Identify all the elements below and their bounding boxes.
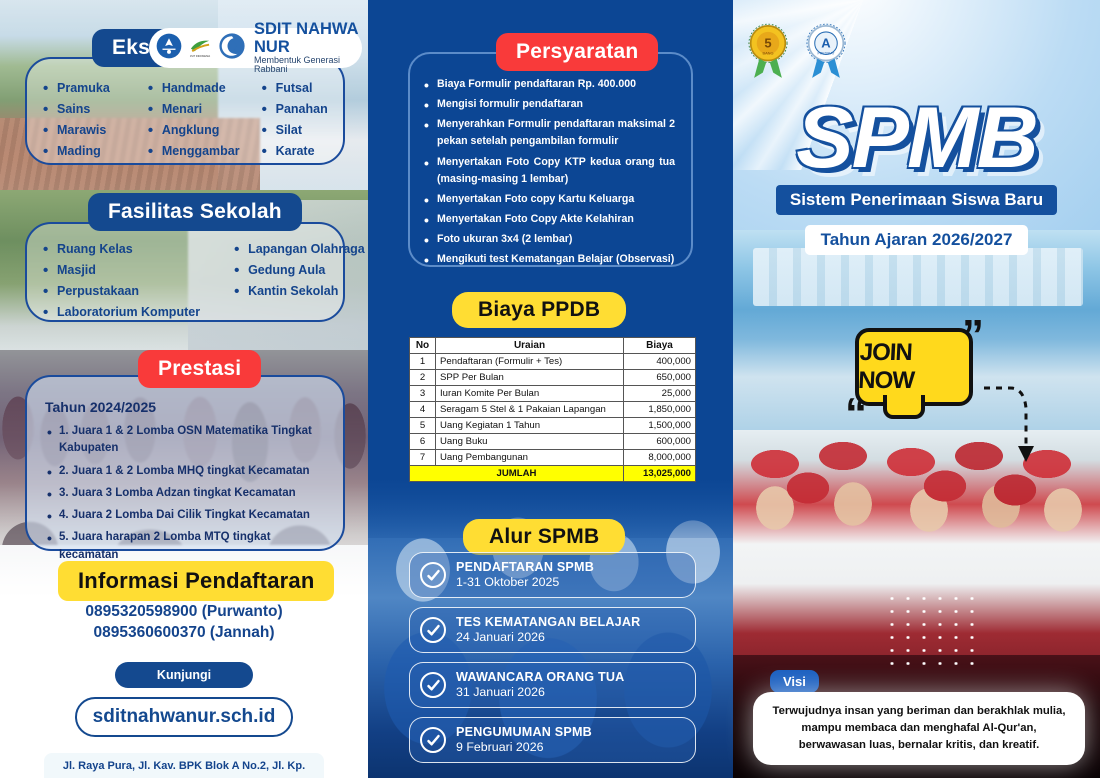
cell-biaya: 400,000 xyxy=(624,354,696,370)
accreditation-badge-ban: A PREDIKAT xyxy=(800,22,852,80)
nahwa-nur-logo-icon xyxy=(218,32,246,65)
check-circle-icon xyxy=(420,562,446,588)
list-item: Pramuka xyxy=(43,81,110,95)
accreditation-badge-jsit: 5 BANG xyxy=(742,22,794,80)
table-row: 7 Uang Pembangunan 8,000,000 xyxy=(410,450,696,466)
cell-no: 3 xyxy=(410,386,436,402)
list-item: Foto ukuran 3x4 (2 lembar) xyxy=(422,231,675,248)
list-item: 2. Juara 1 & 2 Lomba MHQ tingkat Kecamat… xyxy=(45,463,325,480)
list-item: Sains xyxy=(43,102,110,116)
cell-no: 4 xyxy=(410,402,436,418)
cell-no: 7 xyxy=(410,450,436,466)
biaya-ppdb-table: No Uraian Biaya 1 Pendaftaran (Formulir … xyxy=(409,337,696,482)
table-row: 3 Iuran Komite Per Bulan 25,000 xyxy=(410,386,696,402)
flow-step-date: 1-31 Oktober 2025 xyxy=(456,575,594,590)
cell-biaya: 1,850,000 xyxy=(624,402,696,418)
flow-step-2: TES KEMATANGAN BELAJAR 24 Januari 2026 xyxy=(409,607,696,653)
list-item: Angklung xyxy=(148,123,240,137)
list-item: Mading xyxy=(43,144,110,158)
visit-button[interactable]: Kunjungi xyxy=(115,662,253,688)
list-item: Gedung Aula xyxy=(234,263,365,277)
fasilitas-card: Ruang Kelas Masjid Perpustakaan Laborato… xyxy=(25,222,345,322)
list-item: Marawis xyxy=(43,123,110,137)
cell-total-label: JUMLAH xyxy=(410,466,624,482)
cell-biaya: 8,000,000 xyxy=(624,450,696,466)
prestasi-list: 1. Juara 1 & 2 Lomba OSN Matematika Ting… xyxy=(45,423,325,564)
cell-uraian: Uang Pembangunan xyxy=(436,450,624,466)
cell-total-value: 13,025,000 xyxy=(624,466,696,482)
cell-uraian: Seragam 5 Stel & 1 Pakaian Lapangan xyxy=(436,402,624,418)
prestasi-title: Prestasi xyxy=(138,350,261,388)
cell-uraian: Uang Kegiatan 1 Tahun xyxy=(436,418,624,434)
list-item: Menyertakan Foto Copy KTP kedua orang tu… xyxy=(422,154,675,188)
list-item: Menyertakan Foto Copy Akte Kelahiran xyxy=(422,211,675,228)
list-item: Laboratorium Komputer xyxy=(43,305,200,319)
list-item: Kantin Sekolah xyxy=(234,284,365,298)
flow-step-name: WAWANCARA ORANG TUA xyxy=(456,670,624,684)
svg-text:5: 5 xyxy=(764,36,771,51)
list-item: 4. Juara 2 Lomba Dai Cilik Tingkat Kecam… xyxy=(45,507,325,524)
join-now-button[interactable]: JOIN NOW xyxy=(855,328,973,406)
table-row: 4 Seragam 5 Stel & 1 Pakaian Lapangan 1,… xyxy=(410,402,696,418)
prestasi-year: Tahun 2024/2025 xyxy=(45,399,325,415)
list-item: Ruang Kelas xyxy=(43,242,200,256)
tut-wuri-handayani-icon xyxy=(156,33,182,64)
cell-no: 6 xyxy=(410,434,436,450)
list-item: Futsal xyxy=(262,81,328,95)
hero-block: SPMB Sistem Penerimaan Siswa Baru Tahun … xyxy=(733,100,1100,255)
persyaratan-list: Biaya Formulir pendaftaran Rp. 400.000 M… xyxy=(410,54,691,269)
page-title: SPMB xyxy=(733,100,1100,177)
table-row: 2 SPP Per Bulan 650,000 xyxy=(410,370,696,386)
website-link[interactable]: sditnahwanur.sch.id xyxy=(75,697,293,737)
hero-subtitle: Sistem Penerimaan Siswa Baru xyxy=(776,185,1057,215)
school-logo-bar: JSIT INDONESIA SDIT NAHWA NUR Membentuk … xyxy=(149,28,362,68)
check-circle-icon xyxy=(420,617,446,643)
ekstrakurikuler-column-3: Futsal Panahan Silat Karate xyxy=(262,81,328,165)
flow-step-1: PENDAFTARAN SPMB 1-31 Oktober 2025 xyxy=(409,552,696,598)
fasilitas-column-2: Lapangan Olahraga Gedung Aula Kantin Sek… xyxy=(234,242,365,326)
biaya-ppdb-title: Biaya PPDB xyxy=(452,292,626,328)
left-panel: Pramuka Sains Marawis Mading Handmade Me… xyxy=(0,0,368,778)
visi-label: Visi xyxy=(770,670,819,693)
list-item: Karate xyxy=(262,144,328,158)
brochure-page: Pramuka Sains Marawis Mading Handmade Me… xyxy=(0,0,1100,778)
table-row: 1 Pendaftaran (Formulir + Tes) 400,000 xyxy=(410,354,696,370)
flow-step-name: PENDAFTARAN SPMB xyxy=(456,560,594,574)
dot-grid-decoration xyxy=(884,592,980,670)
list-item: Menari xyxy=(148,102,240,116)
flow-step-3: WAWANCARA ORANG TUA 31 Januari 2026 xyxy=(409,662,696,708)
dashed-arrow-icon xyxy=(980,380,1050,470)
list-item: 3. Juara 3 Lomba Adzan tingkat Kecamatan xyxy=(45,485,325,502)
flow-step-4: PENGUMUMAN SPMB 9 Februari 2026 xyxy=(409,717,696,763)
ekstrakurikuler-column-2: Handmade Menari Angklung Menggambar xyxy=(148,81,240,165)
cell-biaya: 1,500,000 xyxy=(624,418,696,434)
prestasi-card: Tahun 2024/2025 1. Juara 1 & 2 Lomba OSN… xyxy=(25,375,345,551)
list-item: Silat xyxy=(262,123,328,137)
list-item: Lapangan Olahraga xyxy=(234,242,365,256)
school-tagline: Membentuk Generasi Rabbani xyxy=(254,56,362,75)
svg-text:JSIT INDONESIA: JSIT INDONESIA xyxy=(190,54,211,58)
table-row: 5 Uang Kegiatan 1 Tahun 1,500,000 xyxy=(410,418,696,434)
cell-uraian: Iuran Komite Per Bulan xyxy=(436,386,624,402)
flow-step-date: 31 Januari 2026 xyxy=(456,685,624,700)
fasilitas-title: Fasilitas Sekolah xyxy=(88,193,302,231)
join-now-label: JOIN NOW xyxy=(858,339,971,395)
list-item: Masjid xyxy=(43,263,200,277)
list-item: Biaya Formulir pendaftaran Rp. 400.000 xyxy=(422,76,675,93)
list-item: 5. Juara harapan 2 Lomba MTQ tingkat kec… xyxy=(45,529,325,564)
visi-text: Terwujudnya insan yang beriman dan berak… xyxy=(753,692,1085,765)
column-header-biaya: Biaya xyxy=(624,338,696,354)
column-header-no: No xyxy=(410,338,436,354)
fasilitas-column-1: Ruang Kelas Masjid Perpustakaan Laborato… xyxy=(43,242,200,326)
school-name: SDIT NAHWA NUR xyxy=(254,21,362,56)
flow-step-name: PENGUMUMAN SPMB xyxy=(456,725,592,739)
list-item: Mengikuti test Kematangan Belajar (Obser… xyxy=(422,251,675,268)
informasi-title: Informasi Pendaftaran xyxy=(58,561,334,601)
persyaratan-card: Biaya Formulir pendaftaran Rp. 400.000 M… xyxy=(408,52,693,267)
list-item: Menggambar xyxy=(148,144,240,158)
check-circle-icon xyxy=(420,672,446,698)
list-item: Mengisi formulir pendaftaran xyxy=(422,96,675,113)
flow-step-date: 9 Februari 2026 xyxy=(456,740,592,755)
check-circle-icon xyxy=(420,727,446,753)
cell-biaya: 650,000 xyxy=(624,370,696,386)
alur-spmb-title: Alur SPMB xyxy=(463,519,625,555)
cell-uraian: SPP Per Bulan xyxy=(436,370,624,386)
jsit-indonesia-icon: JSIT INDONESIA xyxy=(187,33,213,64)
persyaratan-title: Persyaratan xyxy=(496,33,658,71)
cell-no: 1 xyxy=(410,354,436,370)
list-item: Handmade xyxy=(148,81,240,95)
table-total-row: JUMLAH 13,025,000 xyxy=(410,466,696,482)
cell-biaya: 600,000 xyxy=(624,434,696,450)
contact-phone-1[interactable]: 0895320598900 (Purwanto) xyxy=(0,603,368,621)
svg-text:A: A xyxy=(821,36,831,51)
list-item: Menyertakan Foto copy Kartu Keluarga xyxy=(422,191,675,208)
cell-uraian: Pendaftaran (Formulir + Tes) xyxy=(436,354,624,370)
cell-no: 2 xyxy=(410,370,436,386)
school-address: Jl. Raya Pura, Jl. Kav. BPK Blok A No.2,… xyxy=(44,753,324,778)
flow-step-date: 24 Januari 2026 xyxy=(456,630,640,645)
svg-text:BANG: BANG xyxy=(762,50,773,55)
list-item: Perpustakaan xyxy=(43,284,200,298)
svg-text:PREDIKAT: PREDIKAT xyxy=(817,51,835,55)
contact-phone-2[interactable]: 0895360600370 (Jannah) xyxy=(0,624,368,642)
cell-no: 5 xyxy=(410,418,436,434)
table-row: 6 Uang Buku 600,000 xyxy=(410,434,696,450)
table-header-row: No Uraian Biaya xyxy=(410,338,696,354)
list-item: 1. Juara 1 & 2 Lomba OSN Matematika Ting… xyxy=(45,423,325,458)
list-item: Menyerahkan Formulir pendaftaran maksima… xyxy=(422,116,675,150)
hero-academic-year: Tahun Ajaran 2026/2027 xyxy=(805,225,1029,255)
flow-step-name: TES KEMATANGAN BELAJAR xyxy=(456,615,640,629)
cell-biaya: 25,000 xyxy=(624,386,696,402)
ekstrakurikuler-column-1: Pramuka Sains Marawis Mading xyxy=(43,81,110,165)
cell-uraian: Uang Buku xyxy=(436,434,624,450)
list-item: Panahan xyxy=(262,102,328,116)
column-header-uraian: Uraian xyxy=(436,338,624,354)
